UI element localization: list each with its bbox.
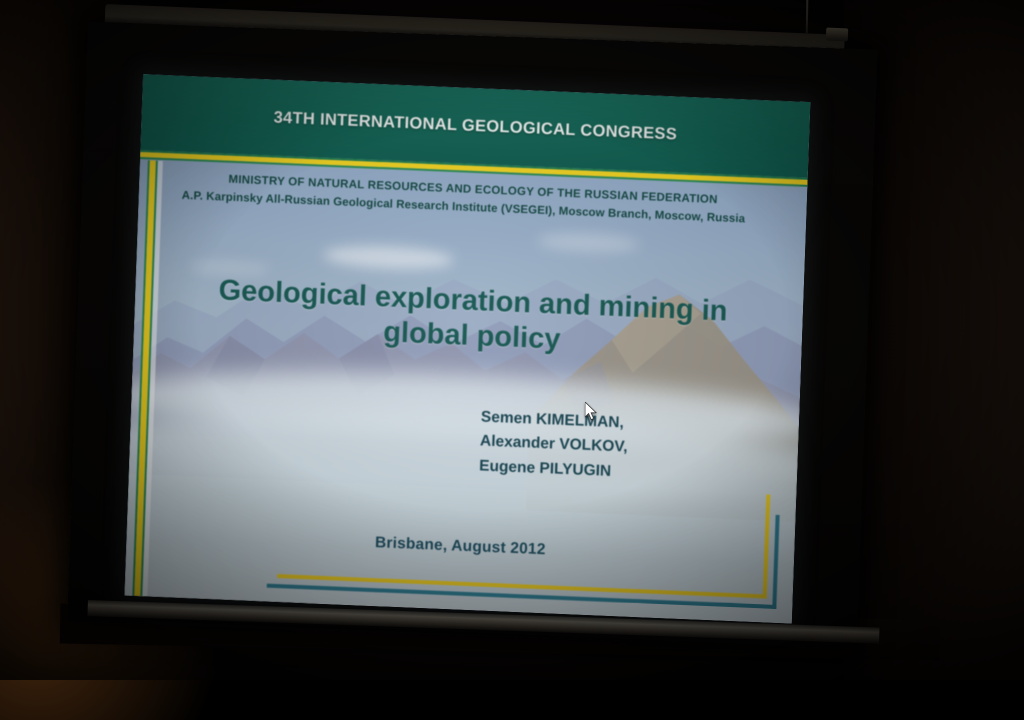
low-haze-layer: [124, 387, 799, 624]
roller-end-cap: [826, 28, 849, 42]
congress-title: 34TH INTERNATIONAL GEOLOGICAL CONGRESS: [273, 108, 677, 144]
slide-canvas: 34TH INTERNATIONAL GEOLOGICAL CONGRESS M…: [124, 74, 810, 624]
projected-slide[interactable]: 34TH INTERNATIONAL GEOLOGICAL CONGRESS M…: [124, 74, 810, 624]
author-list: Semen KIMELMAN, Alexander VOLKOV, Eugene…: [479, 405, 629, 485]
arrow-pointer-icon: [585, 402, 599, 422]
